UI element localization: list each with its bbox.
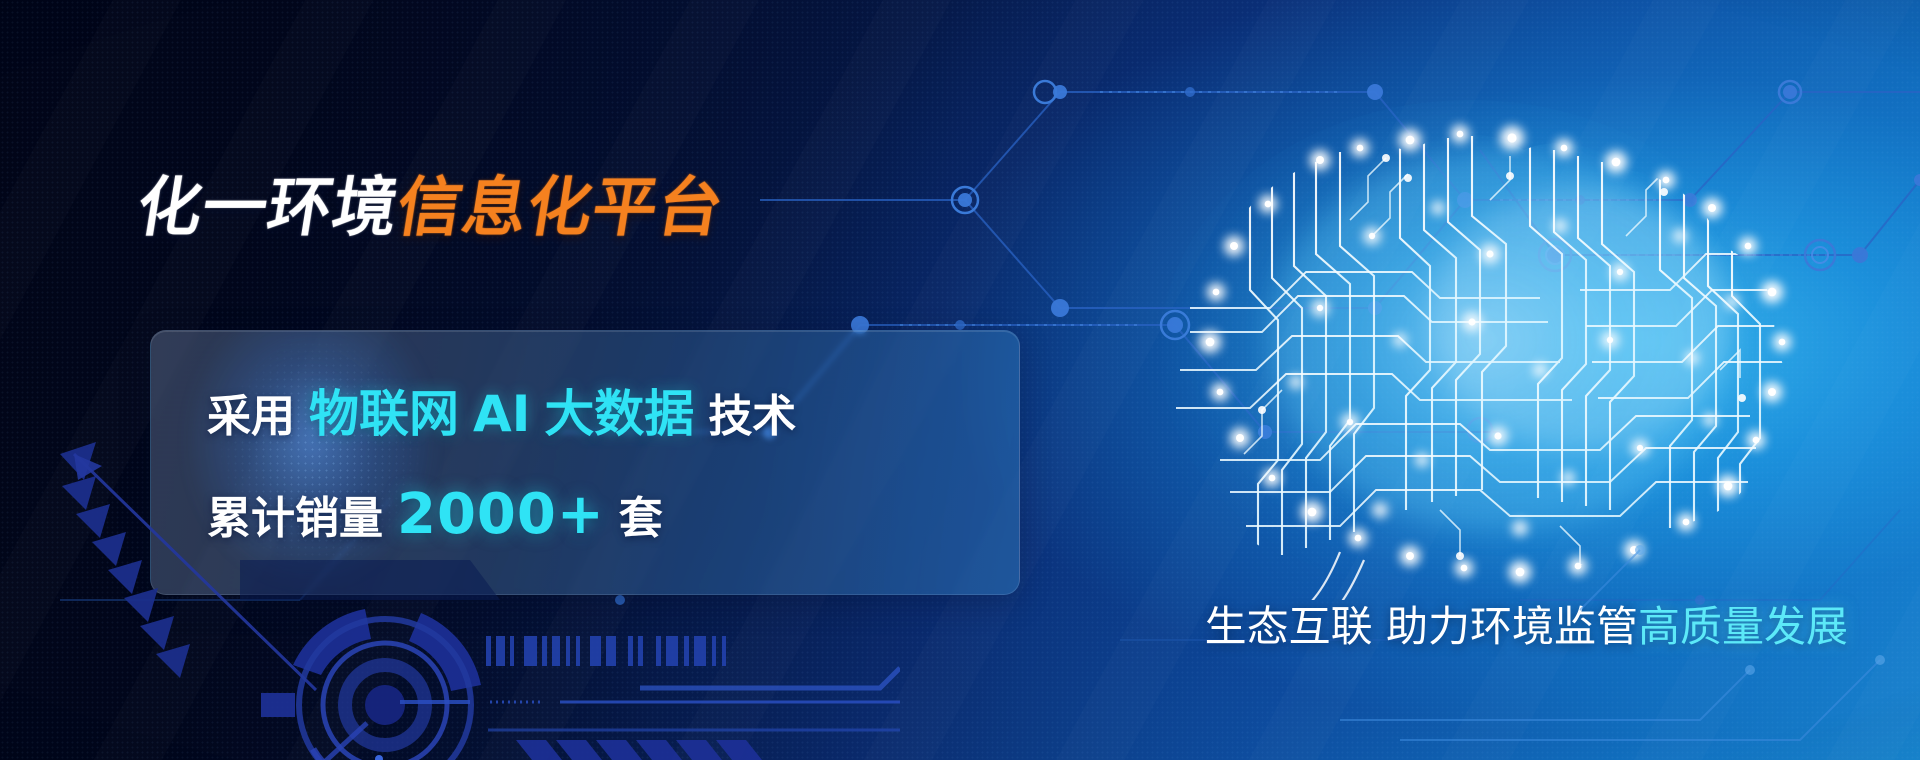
- background-vignette: [0, 0, 1920, 760]
- banner-root: 化一环境信息化平台 采用物联网AI大数据技术 累计销量2000+套 生态互联 助…: [0, 0, 1920, 760]
